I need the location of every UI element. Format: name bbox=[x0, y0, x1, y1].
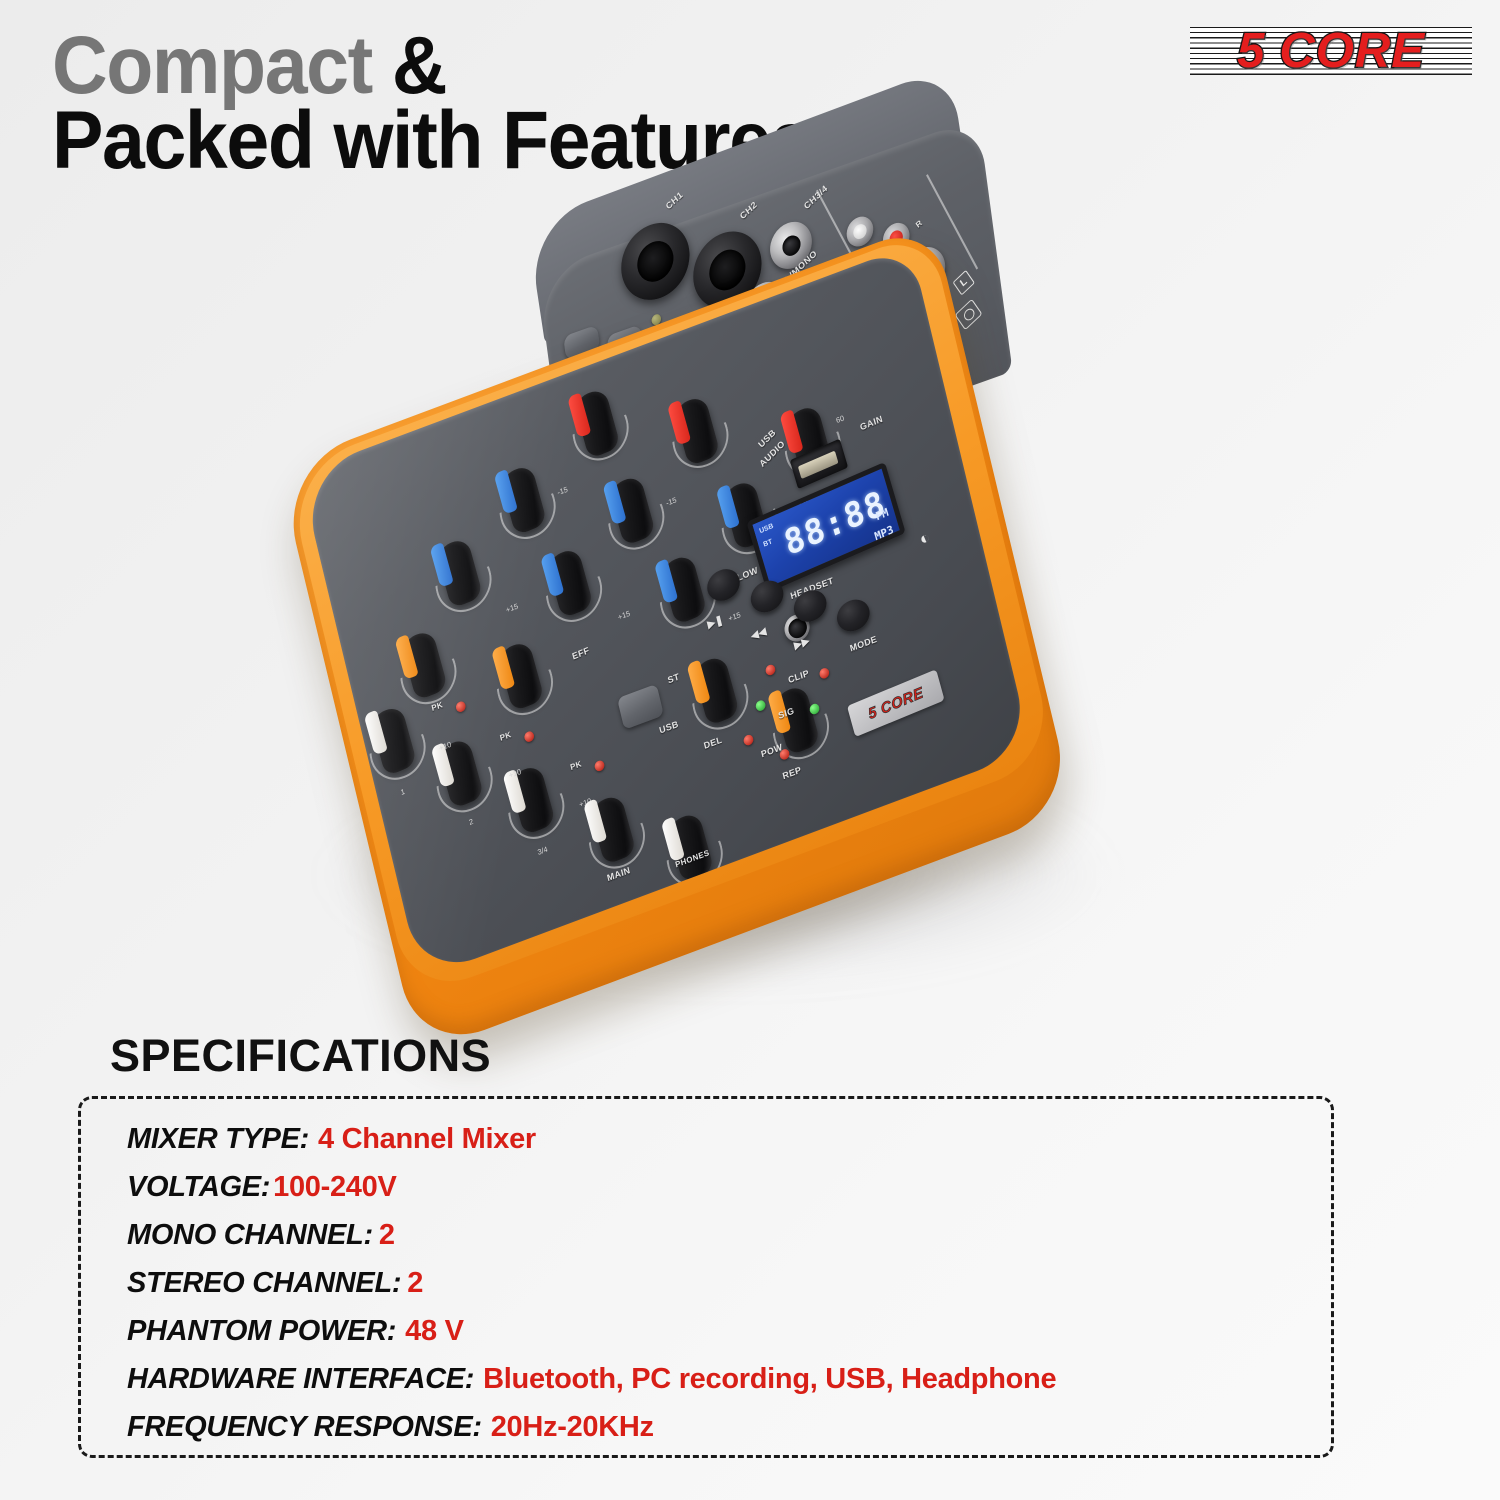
lcd-indicator-usb: USB bbox=[759, 523, 775, 536]
spec-row-voltage: VOLTAGE: 100-240V bbox=[127, 1171, 1331, 1213]
logo-text: 5CORE bbox=[1190, 14, 1472, 88]
label-eff: EFF bbox=[571, 645, 591, 662]
headline-line-1: Compact & bbox=[52, 28, 812, 103]
spec-label-mono-channel: MONO CHANNEL: bbox=[127, 1219, 373, 1252]
spec-value-phantom-power: 48 V bbox=[405, 1315, 463, 1348]
spec-value-hardware-interface: Bluetooth, PC recording, USB, Headphone bbox=[483, 1363, 1056, 1396]
tick-low-plus15-c: +15 bbox=[728, 610, 742, 623]
label-usb-switch: USB bbox=[658, 719, 679, 736]
label-main-l: L bbox=[953, 270, 975, 296]
tick-gain-60: 60 bbox=[835, 413, 845, 425]
led-sig-left bbox=[755, 699, 767, 712]
spec-row-phantom-power: PHANTOM POWER: 48 V bbox=[127, 1315, 1331, 1357]
tick-hi-minus15-a: -15 bbox=[556, 485, 568, 498]
label-channel-2: 2 bbox=[468, 817, 474, 827]
spec-value-mixer-type: 4 Channel Mixer bbox=[318, 1123, 536, 1156]
play-icon: ▶❚ bbox=[706, 614, 724, 631]
label-pk-3: PK bbox=[569, 759, 582, 772]
panel-brand-badge-text: 5 CORE bbox=[866, 684, 925, 723]
spec-label-mixer-type: MIXER TYPE: bbox=[127, 1123, 309, 1156]
spec-value-frequency-response: 20Hz-20KHz bbox=[491, 1411, 654, 1444]
spec-label-phantom-power: PHANTOM POWER: bbox=[127, 1315, 396, 1348]
spec-row-mono-channel: MONO CHANNEL: 2 bbox=[127, 1219, 1331, 1261]
previous-icon: ◀◀ bbox=[750, 626, 768, 642]
led-pk-ch2 bbox=[523, 730, 535, 743]
led-pk-ch1 bbox=[455, 700, 467, 713]
led-clip-right bbox=[818, 667, 830, 680]
spec-label-voltage: VOLTAGE: bbox=[127, 1171, 270, 1204]
label-gain: GAIN bbox=[859, 413, 884, 432]
label-channel-34: 3/4 bbox=[537, 844, 549, 856]
speaker-icon bbox=[955, 299, 983, 331]
tick-low-plus15-a: +15 bbox=[505, 601, 519, 614]
label-ch2: CH2 bbox=[738, 199, 758, 221]
specifications-box: MIXER TYPE: 4 Channel Mixer VOLTAGE: 100… bbox=[78, 1096, 1334, 1458]
lcd-display: USB BT 88:88 FM MP3 bbox=[746, 462, 905, 593]
panel-brand-badge: 5 CORE bbox=[847, 669, 945, 737]
label-del: DEL bbox=[703, 734, 723, 751]
logo-number: 5 bbox=[1237, 23, 1265, 79]
brand-logo-5core: 5CORE bbox=[1190, 14, 1472, 88]
spec-label-hardware-interface: HARDWARE INTERFACE: bbox=[127, 1363, 474, 1396]
label-pk-2: PK bbox=[499, 730, 512, 743]
spec-row-stereo-channel: STEREO CHANNEL: 2 bbox=[127, 1267, 1331, 1309]
label-st: ST bbox=[667, 671, 681, 685]
spec-row-mixer-type: MIXER TYPE: 4 Channel Mixer bbox=[127, 1123, 1331, 1165]
product-image-mixer: Hi-Z +48V Hi-Z +48V CH1 CH2 CH3/4 L/MONO… bbox=[258, 210, 1268, 1010]
label-channel-1: 1 bbox=[400, 787, 406, 797]
led-power-1 bbox=[743, 733, 755, 746]
tick-low-plus15-b: +15 bbox=[617, 609, 631, 622]
spec-label-stereo-channel: STEREO CHANNEL: bbox=[127, 1267, 401, 1300]
led-pk-ch34 bbox=[594, 759, 606, 772]
spec-value-voltage: 100-240V bbox=[273, 1171, 396, 1204]
lcd-indicator-bt: BT bbox=[763, 538, 774, 548]
spec-row-hardware-interface: HARDWARE INTERFACE: Bluetooth, PC record… bbox=[127, 1363, 1331, 1405]
bluetooth-icon: ◐ bbox=[916, 527, 933, 550]
led-clip-left bbox=[765, 663, 777, 676]
logo-word: CORE bbox=[1279, 23, 1425, 79]
specifications-title: SPECIFICATIONS bbox=[110, 1030, 491, 1082]
lcd-time-digits: 88:88 bbox=[780, 483, 890, 564]
label-clip: CLIP bbox=[787, 668, 810, 686]
tick-hi-minus15-b: -15 bbox=[665, 495, 677, 508]
spec-label-frequency-response: FREQUENCY RESPONSE: bbox=[127, 1411, 482, 1444]
label-mode: MODE bbox=[849, 634, 878, 654]
spec-value-stereo-channel: 2 bbox=[407, 1267, 423, 1300]
button-mode[interactable] bbox=[834, 595, 873, 636]
label-rep: REP bbox=[782, 765, 803, 782]
switch-st-usb[interactable] bbox=[617, 684, 664, 730]
spec-value-mono-channel: 2 bbox=[379, 1219, 395, 1252]
spec-row-frequency-response: FREQUENCY RESPONSE: 20Hz-20KHz bbox=[127, 1411, 1331, 1453]
label-rec-r: R bbox=[914, 218, 924, 230]
